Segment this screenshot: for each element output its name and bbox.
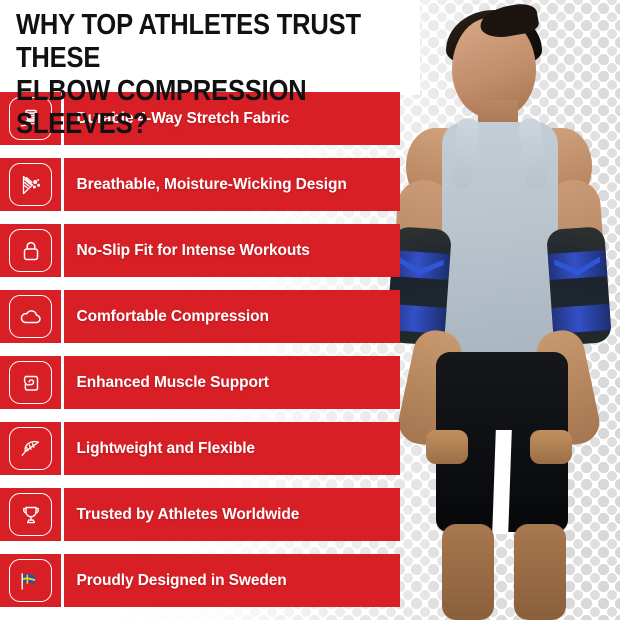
list-item-label: Enhanced Muscle Support	[77, 374, 269, 392]
row-divider	[61, 554, 64, 607]
list-item[interactable]: Lightweight and Flexible	[0, 422, 620, 475]
row-divider	[61, 158, 64, 211]
row-divider	[61, 422, 64, 475]
row-divider	[61, 290, 64, 343]
row-divider	[61, 488, 64, 541]
infographic-poster: WHY TOP ATHLETES TRUST THESE ELBOW COMPR…	[0, 0, 620, 620]
list-item[interactable]: Trusted by Athletes Worldwide	[0, 488, 620, 541]
page-title: WHY TOP ATHLETES TRUST THESE ELBOW COMPR…	[16, 9, 430, 141]
list-item[interactable]: Proudly Designed in Sweden	[0, 554, 620, 607]
list-item-label: Comfortable Compression	[77, 308, 269, 326]
list-item[interactable]: Breathable, Moisture-Wicking Design	[0, 158, 620, 211]
row-divider	[61, 224, 64, 277]
lock-icon	[9, 229, 52, 272]
list-item-label: Breathable, Moisture-Wicking Design	[77, 176, 347, 194]
list-item[interactable]: Enhanced Muscle Support	[0, 356, 620, 409]
sweden-flag-icon	[9, 559, 52, 602]
cloud-icon	[9, 295, 52, 338]
trophy-icon	[9, 493, 52, 536]
list-item-label: No-Slip Fit for Intense Workouts	[77, 242, 310, 260]
flexed-bicep-icon	[9, 361, 52, 404]
feather-icon	[9, 427, 52, 470]
list-item-label: Proudly Designed in Sweden	[77, 572, 287, 590]
list-item[interactable]: No-Slip Fit for Intense Workouts	[0, 224, 620, 277]
list-item-label: Lightweight and Flexible	[77, 440, 255, 458]
list-item-label: Trusted by Athletes Worldwide	[77, 506, 300, 524]
breathable-fabric-icon	[9, 163, 52, 206]
list-item[interactable]: Comfortable Compression	[0, 290, 620, 343]
row-divider	[61, 356, 64, 409]
feature-list: Durable 4-Way Stretch Fabric Breathable,…	[0, 92, 620, 620]
